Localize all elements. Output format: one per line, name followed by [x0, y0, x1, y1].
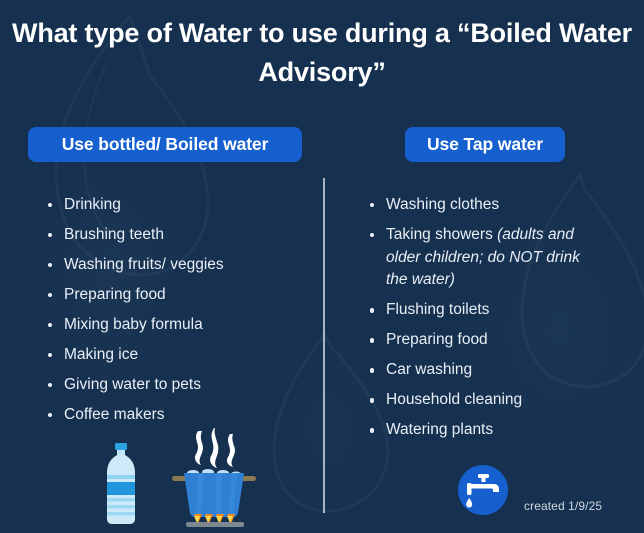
list-item: Household cleaning — [366, 389, 602, 412]
column-divider — [323, 178, 325, 513]
list-item-label: Household cleaning — [386, 391, 522, 408]
list-item-label: Drinking — [64, 196, 121, 213]
infographic-poster: What type of Water to use during a “Boil… — [0, 0, 644, 533]
list-item-label: Watering plants — [386, 421, 493, 438]
tap-water-list: Washing clothes Taking showers (adults a… — [366, 194, 602, 449]
list-item-label: Preparing food — [64, 286, 166, 303]
list-item: Brushing teeth — [44, 224, 306, 247]
faucet-icon — [458, 465, 508, 515]
list-item-label: Washing clothes — [386, 196, 499, 213]
list-item: Giving water to pets — [44, 374, 306, 397]
list-item: Preparing food — [366, 329, 602, 352]
list-item-label: Brushing teeth — [64, 226, 164, 243]
list-item: Flushing toilets — [366, 299, 602, 322]
list-item: Car washing — [366, 359, 602, 382]
badge-use-tap-water: Use Tap water — [405, 127, 565, 162]
list-item: Making ice — [44, 344, 306, 367]
list-item: Mixing baby formula — [44, 314, 306, 337]
page-title: What type of Water to use during a “Boil… — [0, 14, 644, 92]
boiling-pot-icon — [168, 428, 260, 528]
list-item: Watering plants — [366, 419, 602, 442]
water-bottle-icon — [99, 443, 143, 525]
list-item: Preparing food — [44, 284, 306, 307]
list-item-label: Making ice — [64, 346, 138, 363]
list-item: Washing fruits/ veggies — [44, 254, 306, 277]
created-date-label: created 1/9/25 — [524, 499, 602, 513]
badge-use-bottled-boiled-water: Use bottled/ Boiled water — [28, 127, 302, 162]
list-item: Drinking — [44, 194, 306, 217]
list-item-label: Flushing toilets — [386, 301, 489, 318]
bottled-boiled-water-list: Drinking Brushing teeth Washing fruits/ … — [44, 194, 306, 434]
list-item: Washing clothes — [366, 194, 602, 217]
list-item-label: Preparing food — [386, 331, 488, 348]
list-item: Taking showers (adults and older childre… — [366, 224, 602, 292]
list-item: Coffee makers — [44, 404, 306, 427]
list-item-label: Taking showers — [386, 226, 497, 243]
list-item-label: Giving water to pets — [64, 376, 201, 393]
list-item-label: Car washing — [386, 361, 472, 378]
list-item-label: Washing fruits/ veggies — [64, 256, 224, 273]
list-item-label: Mixing baby formula — [64, 316, 203, 333]
list-item-label: Coffee makers — [64, 406, 165, 423]
